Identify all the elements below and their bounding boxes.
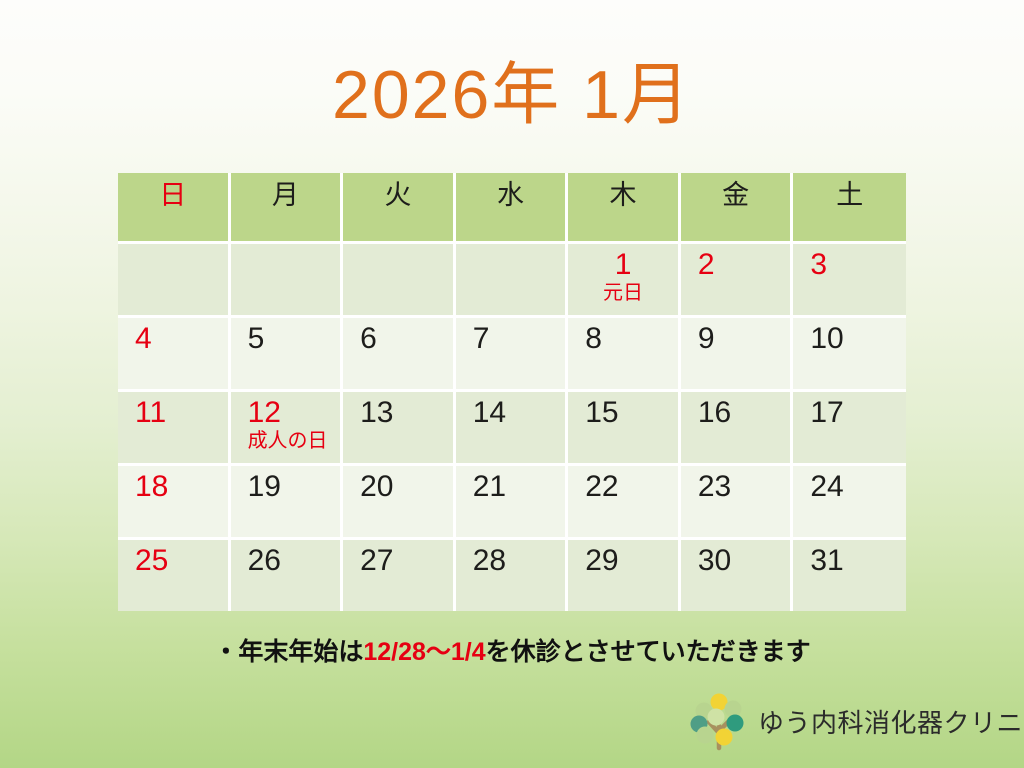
day-number: 11 bbox=[118, 392, 228, 428]
calendar-day-cell[interactable]: 31 bbox=[793, 540, 906, 611]
calendar-day-cell[interactable] bbox=[456, 244, 569, 318]
day-number: 18 bbox=[118, 466, 228, 502]
calendar-day-cell[interactable]: 8 bbox=[568, 318, 681, 392]
calendar-day-cell[interactable] bbox=[343, 244, 456, 318]
day-number: 15 bbox=[568, 392, 678, 428]
calendar-day-cell[interactable]: 15 bbox=[568, 392, 681, 466]
calendar-day-cell[interactable]: 18 bbox=[118, 466, 231, 540]
calendar-day-cell[interactable]: 11 bbox=[118, 392, 231, 466]
calendar-week-row: 4 5 6 7 8 bbox=[118, 318, 906, 392]
calendar-day-cell[interactable]: 21 bbox=[456, 466, 569, 540]
holiday-label bbox=[231, 576, 341, 578]
holiday-label: 成人の日 bbox=[231, 428, 341, 452]
calendar-day-cell[interactable]: 27 bbox=[343, 540, 456, 611]
day-number: 24 bbox=[793, 466, 906, 502]
closure-note-suffix: を休診とさせていただきます bbox=[486, 638, 811, 666]
day-number: 30 bbox=[681, 540, 791, 576]
day-number: 13 bbox=[343, 392, 453, 428]
day-number: 19 bbox=[231, 466, 341, 502]
day-number: 5 bbox=[231, 318, 341, 354]
weekday-header-fri: 金 bbox=[681, 173, 794, 244]
calendar-day-cell[interactable]: 22 bbox=[568, 466, 681, 540]
weekday-header-tue: 火 bbox=[343, 173, 456, 244]
holiday-label bbox=[456, 250, 566, 252]
calendar-day-cell[interactable]: 12 成人の日 bbox=[231, 392, 344, 466]
calendar-week-row: 11 12 成人の日 13 14 15 bbox=[118, 392, 906, 466]
day-number: 10 bbox=[793, 318, 906, 354]
day-number: 31 bbox=[793, 540, 906, 576]
month-calendar-table: 日 月 火 水 木 金 土 bbox=[118, 173, 906, 611]
calendar-day-cell[interactable]: 9 bbox=[681, 318, 794, 392]
calendar-day-cell[interactable]: 29 bbox=[568, 540, 681, 611]
clinic-logo: ゆう内科消化器クリニック bbox=[688, 688, 1008, 754]
calendar-day-cell[interactable]: 30 bbox=[681, 540, 794, 611]
calendar-day-cell[interactable]: 4 bbox=[118, 318, 231, 392]
calendar-day-cell[interactable]: 2 bbox=[681, 244, 794, 318]
calendar-day-cell[interactable]: 3 bbox=[793, 244, 906, 318]
calendar-day-cell[interactable]: 10 bbox=[793, 318, 906, 392]
page-title: 2026年 1月 bbox=[0, 58, 1024, 133]
calendar-day-cell[interactable] bbox=[231, 244, 344, 318]
day-number: 26 bbox=[231, 540, 341, 576]
calendar-slide: 2026年 1月 日 月 火 水 木 金 土 bbox=[0, 0, 1024, 768]
closure-note-prefix: ・年末年始は bbox=[213, 638, 363, 666]
calendar-day-cell[interactable]: 16 bbox=[681, 392, 794, 466]
day-number: 23 bbox=[681, 466, 791, 502]
calendar-day-cell[interactable]: 5 bbox=[231, 318, 344, 392]
holiday-label bbox=[118, 250, 228, 252]
day-number: 16 bbox=[681, 392, 791, 428]
calendar-day-cell[interactable]: 23 bbox=[681, 466, 794, 540]
holiday-label bbox=[343, 250, 453, 252]
weekday-header-sun: 日 bbox=[118, 173, 231, 244]
day-number: 6 bbox=[343, 318, 453, 354]
weekday-header-sat: 土 bbox=[793, 173, 906, 244]
day-number: 9 bbox=[681, 318, 791, 354]
calendar-header-row: 日 月 火 水 木 金 土 bbox=[118, 173, 906, 244]
holiday-label bbox=[231, 502, 341, 504]
day-number: 22 bbox=[568, 466, 678, 502]
day-number: 28 bbox=[456, 540, 566, 576]
calendar-day-cell[interactable]: 24 bbox=[793, 466, 906, 540]
calendar-day-cell[interactable]: 1 元日 bbox=[568, 244, 681, 318]
day-number: 1 bbox=[568, 244, 678, 280]
calendar-week-row: 25 26 27 28 29 bbox=[118, 540, 906, 611]
day-number: 14 bbox=[456, 392, 566, 428]
day-number: 8 bbox=[568, 318, 678, 354]
day-number: 17 bbox=[793, 392, 906, 428]
calendar-day-cell[interactable]: 7 bbox=[456, 318, 569, 392]
calendar-day-cell[interactable]: 26 bbox=[231, 540, 344, 611]
calendar-day-cell[interactable]: 6 bbox=[343, 318, 456, 392]
day-number: 12 bbox=[231, 392, 341, 428]
calendar-day-cell[interactable]: 14 bbox=[456, 392, 569, 466]
day-number: 25 bbox=[118, 540, 228, 576]
weekday-header-thu: 木 bbox=[568, 173, 681, 244]
day-number: 20 bbox=[343, 466, 453, 502]
calendar-day-cell[interactable]: 17 bbox=[793, 392, 906, 466]
calendar-day-cell[interactable]: 28 bbox=[456, 540, 569, 611]
calendar-day-cell[interactable]: 13 bbox=[343, 392, 456, 466]
day-number: 27 bbox=[343, 540, 453, 576]
calendar-week-row: 1 元日 2 3 bbox=[118, 244, 906, 318]
day-number: 7 bbox=[456, 318, 566, 354]
holiday-label: 元日 bbox=[568, 280, 678, 304]
tree-logo-icon bbox=[688, 690, 752, 752]
calendar-body: 1 元日 2 3 4 5 bbox=[118, 244, 906, 611]
calendar-day-cell[interactable]: 20 bbox=[343, 466, 456, 540]
calendar-day-cell[interactable] bbox=[118, 244, 231, 318]
day-number: 29 bbox=[568, 540, 678, 576]
day-number: 4 bbox=[118, 318, 228, 354]
calendar-week-row: 18 19 20 21 22 bbox=[118, 466, 906, 540]
clinic-name: ゆう内科消化器クリニック bbox=[758, 703, 1024, 740]
closure-note: ・年末年始は12/28〜1/4を休診とさせていただきます bbox=[0, 632, 1024, 668]
weekday-header-wed: 水 bbox=[456, 173, 569, 244]
day-number: 21 bbox=[456, 466, 566, 502]
day-number: 3 bbox=[793, 244, 906, 280]
holiday-label bbox=[231, 354, 341, 356]
day-number: 2 bbox=[681, 244, 791, 280]
holiday-label bbox=[231, 250, 341, 252]
calendar-day-cell[interactable]: 19 bbox=[231, 466, 344, 540]
weekday-header-mon: 月 bbox=[231, 173, 344, 244]
closure-note-dates: 12/28〜1/4 bbox=[363, 638, 485, 666]
calendar-day-cell[interactable]: 25 bbox=[118, 540, 231, 611]
